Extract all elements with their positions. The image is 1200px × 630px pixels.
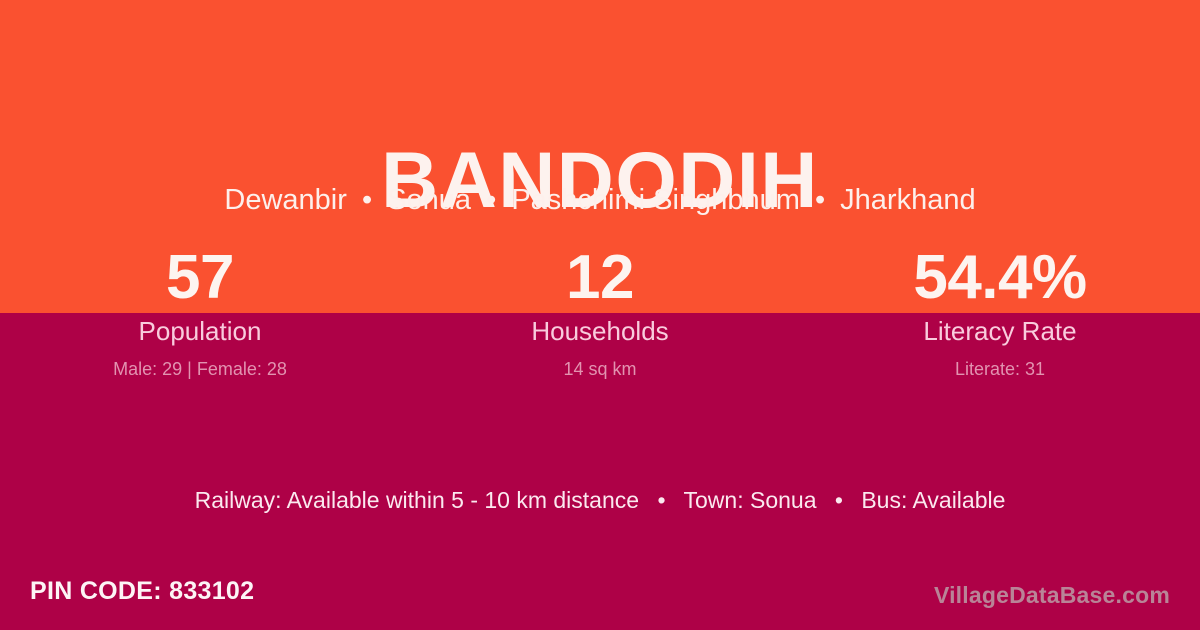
stat-households: 12 Households 14 sq km	[400, 244, 800, 381]
stat-literacy-rate: 54.4% Literacy Rate Literate: 31	[800, 244, 1200, 381]
amenities-line: Railway: Available within 5 - 10 km dist…	[0, 485, 1200, 515]
stat-value-literacy-rate: 54.4%	[800, 244, 1200, 312]
stat-value-households: 12	[400, 244, 800, 312]
breadcrumb-item-block: Sonua	[387, 184, 471, 216]
stats-row: 57 Population Male: 29 | Female: 28 12 H…	[0, 244, 1200, 381]
amenity-bus: Bus: Available	[861, 487, 1005, 513]
amenity-separator: •	[823, 487, 855, 513]
site-watermark: VillageDataBase.com	[934, 580, 1170, 610]
breadcrumb: Dewanbir • Sonua • Pashchimi Singhbhum •…	[0, 180, 1200, 220]
breadcrumb-item-state: Jharkhand	[840, 184, 975, 216]
breadcrumb-separator: •	[808, 184, 832, 216]
breadcrumb-item-village: Dewanbir	[224, 184, 347, 216]
breadcrumb-separator: •	[355, 184, 379, 216]
stat-sub-households: 14 sq km	[400, 357, 800, 381]
amenity-separator: •	[645, 487, 677, 513]
stat-sub-literacy-rate: Literate: 31	[800, 357, 1200, 381]
stat-value-population: 57	[0, 244, 400, 312]
stat-label-households: Households	[400, 314, 800, 348]
stat-label-literacy-rate: Literacy Rate	[800, 314, 1200, 348]
stat-population: 57 Population Male: 29 | Female: 28	[0, 244, 400, 381]
amenity-town: Town: Sonua	[684, 487, 817, 513]
breadcrumb-item-district: Pashchimi Singhbhum	[511, 184, 800, 216]
stat-label-population: Population	[0, 314, 400, 348]
amenity-railway: Railway: Available within 5 - 10 km dist…	[195, 487, 639, 513]
stat-sub-population: Male: 29 | Female: 28	[0, 357, 400, 381]
breadcrumb-separator: •	[479, 184, 503, 216]
pin-code-label: PIN CODE: 833102	[30, 574, 254, 608]
village-info-card: BANDODIH Dewanbir • Sonua • Pashchimi Si…	[0, 0, 1200, 630]
